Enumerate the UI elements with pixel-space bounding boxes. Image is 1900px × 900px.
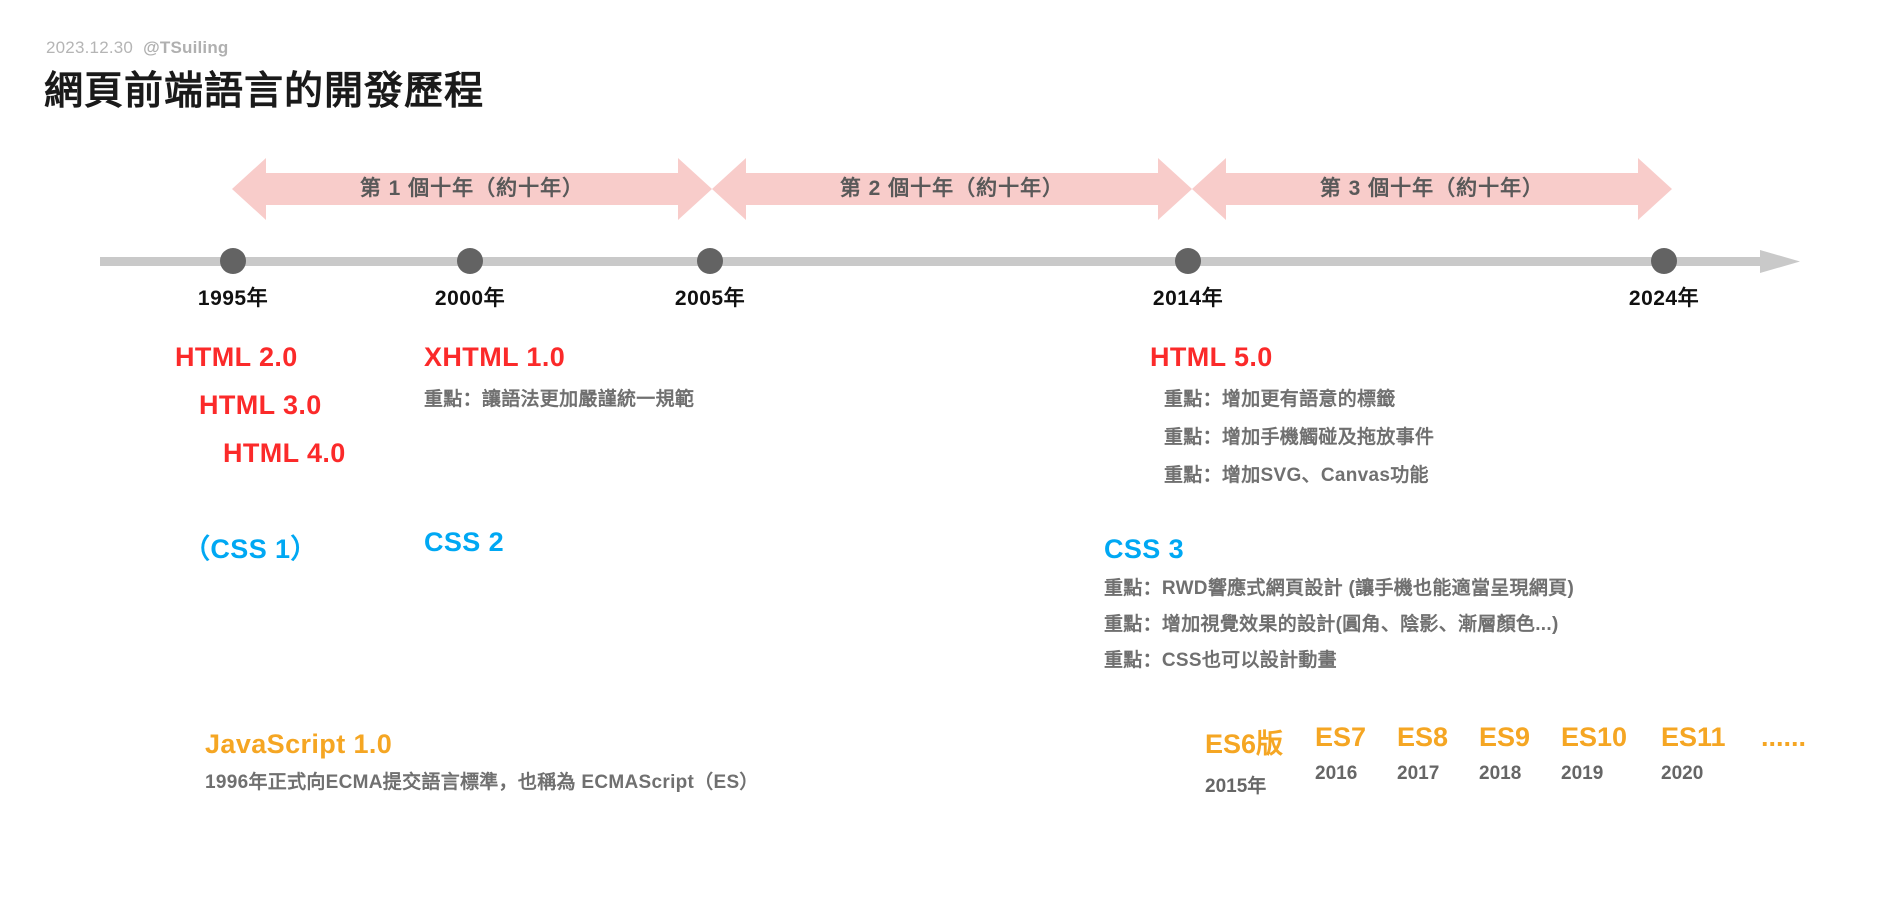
css3-note: 重點：CSS也可以設計動畫	[1104, 643, 1574, 679]
meta-line: 2023.12.30@TSuiling	[46, 38, 229, 58]
xhtml-block: XHTML 1.0 重點：讓語法更加嚴謹統一規範	[424, 333, 694, 419]
es-version-item: ES8 2017	[1397, 722, 1448, 785]
css3-note: 重點：RWD響應式網頁設計 (讓手機也能適當呈現網頁)	[1104, 571, 1574, 607]
css1-block: （CSS 1）	[183, 527, 318, 566]
html5-block: HTML 5.0 重點：增加更有語意的標籤 重點：增加手機觸碰及拖放事件 重點：…	[1150, 333, 1434, 495]
year-label: 2014年	[1153, 282, 1223, 312]
es-version-year: 2018	[1479, 763, 1530, 785]
html5-title: HTML 5.0	[1150, 333, 1434, 381]
axis-arrow-icon	[100, 248, 1800, 274]
timeline-infographic: 2023.12.30@TSuiling 網頁前端語言的開發歷程 第 1 個十年（…	[0, 0, 1900, 900]
es-version-name: ES7	[1315, 722, 1366, 753]
es-version-year: 2015年	[1205, 771, 1283, 798]
javascript-block: JavaScript 1.0 1996年正式向ECMA提交語言標準，也稱為 EC…	[205, 722, 759, 800]
es-version-ellipsis: ......	[1761, 722, 1806, 753]
timeline-dot	[457, 248, 483, 274]
es-version-item: ......	[1761, 722, 1806, 753]
timeline-axis	[100, 248, 1800, 274]
html-early-versions-block: HTML 2.0 HTML 3.0 HTML 4.0	[175, 333, 346, 477]
es-version-item: ES11 2020	[1661, 722, 1726, 785]
javascript-title: JavaScript 1.0	[205, 722, 759, 766]
author-handle: @TSuiling	[143, 38, 228, 57]
decade-band: 第 1 個十年（約十年） 第 2 個十年（約十年） 第 3 個十年（約十年）	[0, 158, 1900, 220]
css2-block: CSS 2	[424, 527, 504, 558]
es-version-name: ES8	[1397, 722, 1448, 753]
javascript-note: 1996年正式向ECMA提交語言標準，也稱為 ECMAScript（ES）	[205, 766, 759, 800]
css3-block: CSS 3 重點：RWD響應式網頁設計 (讓手機也能適當呈現網頁) 重點：增加視…	[1104, 527, 1574, 679]
css2-title: CSS 2	[424, 527, 504, 558]
html5-note: 重點：增加SVG、Canvas功能	[1150, 457, 1434, 495]
es-version-year: 2017	[1397, 763, 1448, 785]
es-version-item: ES9 2018	[1479, 722, 1530, 785]
decade-label-2: 第 2 個十年（約十年）	[712, 158, 1192, 220]
xhtml-note: 重點：讓語法更加嚴謹統一規範	[424, 381, 694, 419]
html-version-label: HTML 2.0	[175, 333, 346, 381]
css1-title: （CSS 1）	[183, 527, 318, 566]
es-version-name: ES11	[1661, 722, 1726, 753]
timeline-dot	[220, 248, 246, 274]
timeline-dot	[1651, 248, 1677, 274]
es-version-name: ES6版	[1205, 722, 1283, 761]
xhtml-title: XHTML 1.0	[424, 333, 694, 381]
css3-note: 重點：增加視覺效果的設計(圓角、陰影、漸層顏色...)	[1104, 607, 1574, 643]
es-version-name: ES10	[1561, 722, 1627, 753]
page-title: 網頁前端語言的開發歷程	[44, 60, 484, 116]
es-version-item: ES10 2019	[1561, 722, 1627, 785]
es-version-year: 2016	[1315, 763, 1366, 785]
html-version-label: HTML 4.0	[175, 429, 346, 477]
timeline-dot	[1175, 248, 1201, 274]
decade-label-3: 第 3 個十年（約十年）	[1192, 158, 1672, 220]
year-label: 2005年	[675, 282, 745, 312]
html5-note: 重點：增加手機觸碰及拖放事件	[1150, 419, 1434, 457]
css3-title: CSS 3	[1104, 527, 1574, 571]
decade-arrow-2: 第 2 個十年（約十年）	[712, 158, 1192, 220]
es-version-year: 2020	[1661, 763, 1726, 785]
decade-arrow-1: 第 1 個十年（約十年）	[232, 158, 712, 220]
year-label: 2000年	[435, 282, 505, 312]
html-version-label: HTML 3.0	[175, 381, 346, 429]
es-version-item: ES7 2016	[1315, 722, 1366, 785]
publish-date: 2023.12.30	[46, 38, 133, 57]
timeline-dot	[697, 248, 723, 274]
es-version-year: 2019	[1561, 763, 1627, 785]
es-version-item: ES6版 2015年	[1205, 722, 1283, 798]
es-version-name: ES9	[1479, 722, 1530, 753]
html5-note: 重點：增加更有語意的標籤	[1150, 381, 1434, 419]
year-label: 1995年	[198, 282, 268, 312]
year-label: 2024年	[1629, 282, 1699, 312]
es-versions-block: ES6版 2015年 ES7 2016 ES8 2017 ES9 2018 ES…	[1205, 722, 1805, 802]
decade-label-1: 第 1 個十年（約十年）	[232, 158, 712, 220]
decade-arrow-3: 第 3 個十年（約十年）	[1192, 158, 1672, 220]
